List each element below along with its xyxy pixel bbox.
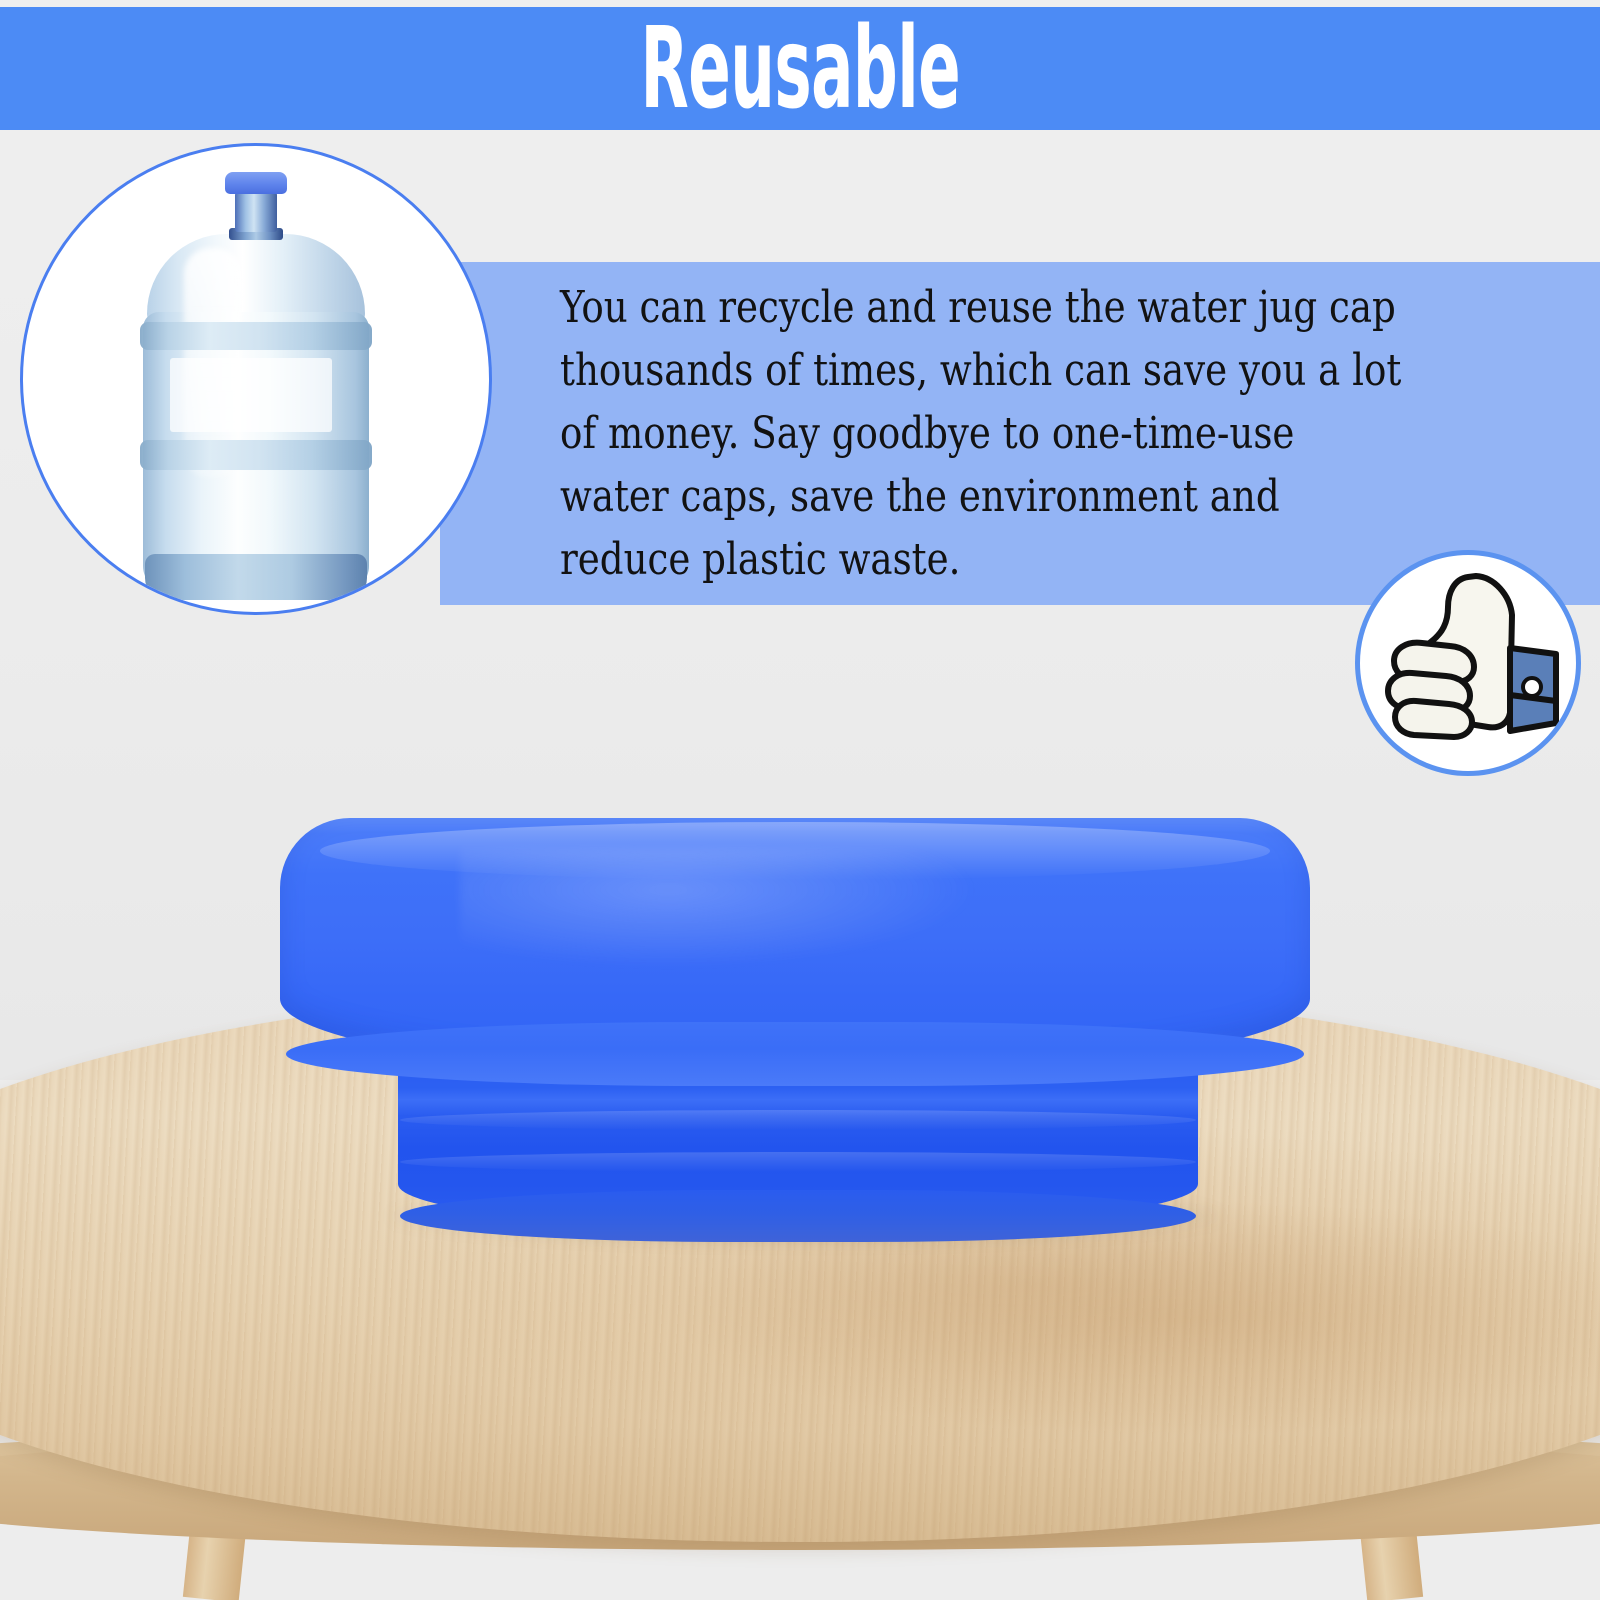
water-jug-illustration bbox=[140, 172, 372, 602]
product-feature-card: Reusable You can recycle and reuse the w… bbox=[0, 0, 1600, 1600]
cap-base-rim bbox=[400, 1190, 1196, 1242]
cap-body-ring-lower bbox=[400, 1152, 1196, 1172]
cuff-button-icon bbox=[1523, 678, 1541, 696]
cap-body-ring-upper bbox=[400, 1110, 1196, 1130]
header-banner: Reusable bbox=[0, 7, 1600, 130]
jug-rib-lower bbox=[140, 440, 372, 470]
description-text: You can recycle and reuse the water jug … bbox=[560, 276, 1413, 591]
water-jug-photo bbox=[20, 143, 492, 615]
jug-label-area bbox=[170, 358, 332, 432]
jug-bottle-cap bbox=[225, 172, 287, 194]
jug-rib-upper bbox=[140, 322, 372, 350]
product-image-silicone-cap bbox=[280, 818, 1310, 1238]
cap-gloss bbox=[460, 848, 980, 968]
jug-shoulder bbox=[147, 234, 365, 324]
thumbs-up-icon bbox=[1360, 555, 1576, 771]
banner-title: Reusable bbox=[640, 14, 960, 124]
jug-neck bbox=[235, 192, 277, 232]
thumbs-up-badge bbox=[1355, 550, 1581, 776]
jug-base bbox=[145, 554, 367, 600]
cap-flange-lip bbox=[286, 1022, 1304, 1086]
